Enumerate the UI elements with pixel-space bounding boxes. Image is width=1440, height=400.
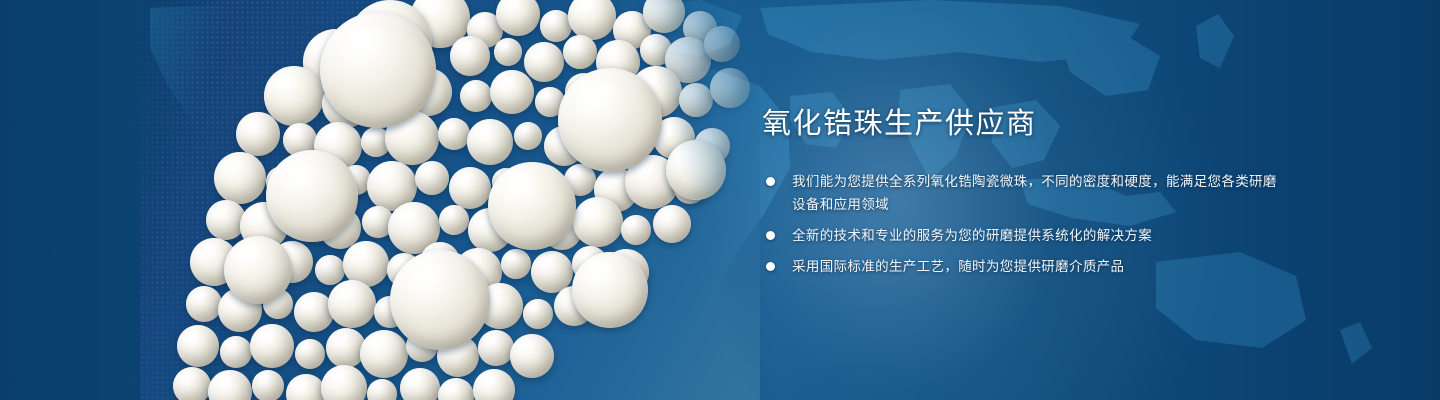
zirconia-bead	[679, 83, 713, 117]
zirconia-bead	[321, 365, 367, 400]
zirconia-bead	[568, 0, 616, 40]
zirconia-bead	[367, 379, 397, 400]
hero-banner: 氧化锆珠生产供应商 我们能为您提供全系列氧化锆陶瓷微珠，不同的密度和硬度，能满足…	[0, 0, 1440, 400]
zirconia-bead	[653, 205, 691, 243]
zirconia-bead	[478, 330, 514, 366]
zirconia-beads-photo	[140, 0, 760, 400]
zirconia-bead	[710, 68, 750, 108]
bead-cluster	[140, 0, 760, 400]
zirconia-bead	[494, 38, 522, 66]
zirconia-bead	[490, 70, 534, 114]
zirconia-bead	[400, 368, 440, 400]
zirconia-bead	[208, 370, 252, 400]
zirconia-bead	[523, 299, 553, 329]
bullet-dot-icon	[766, 177, 775, 186]
zirconia-bead	[514, 122, 542, 150]
zirconia-bead	[186, 286, 222, 322]
feature-item-3: 采用国际标准的生产工艺，随时为您提供研磨介质产品	[762, 255, 1282, 278]
feature-text-1: 我们能为您提供全系列氧化锆陶瓷微珠，不同的密度和硬度，能满足您各类研磨设备和应用…	[792, 174, 1277, 212]
zirconia-bead	[666, 140, 726, 200]
zirconia-bead	[266, 150, 358, 242]
feature-text-2: 全新的技术和专业的服务为您的研磨提供系统化的解决方案	[792, 228, 1152, 243]
feature-text-3: 采用国际标准的生产工艺，随时为您提供研磨介质产品	[792, 259, 1124, 274]
zirconia-bead	[390, 250, 490, 350]
zirconia-bead	[214, 152, 266, 204]
zirconia-bead	[438, 378, 474, 400]
zirconia-bead	[473, 369, 515, 400]
zirconia-bead	[415, 161, 449, 195]
zirconia-bead	[524, 42, 564, 82]
feature-item-2: 全新的技术和专业的服务为您的研磨提供系统化的解决方案	[762, 224, 1282, 247]
zirconia-bead	[510, 334, 554, 378]
banner-content: 氧化锆珠生产供应商 我们能为您提供全系列氧化锆陶瓷微珠，不同的密度和硬度，能满足…	[762, 104, 1282, 278]
zirconia-bead	[501, 249, 531, 279]
zirconia-bead	[320, 12, 436, 128]
zirconia-bead	[250, 324, 294, 368]
zirconia-bead	[360, 330, 408, 378]
zirconia-bead	[224, 236, 292, 304]
zirconia-bead	[621, 215, 651, 245]
zirconia-bead	[460, 80, 492, 112]
bullet-dot-icon	[766, 262, 775, 271]
zirconia-bead	[704, 26, 740, 62]
zirconia-bead	[439, 205, 469, 235]
zirconia-bead	[236, 112, 280, 156]
zirconia-bead	[295, 339, 325, 369]
zirconia-bead	[286, 374, 326, 400]
bullet-dot-icon	[766, 231, 775, 240]
feature-list: 我们能为您提供全系列氧化锆陶瓷微珠，不同的密度和硬度，能满足您各类研磨设备和应用…	[762, 170, 1282, 278]
zirconia-bead	[449, 167, 491, 209]
zirconia-bead	[467, 119, 513, 165]
zirconia-bead	[450, 36, 490, 76]
banner-headline: 氧化锆珠生产供应商	[762, 104, 1282, 144]
zirconia-bead	[252, 370, 284, 400]
zirconia-bead	[438, 118, 470, 150]
zirconia-bead	[496, 0, 540, 36]
zirconia-bead	[563, 35, 597, 69]
zirconia-bead	[488, 162, 576, 250]
zirconia-bead	[177, 325, 219, 367]
feature-item-1: 我们能为您提供全系列氧化锆陶瓷微珠，不同的密度和硬度，能满足您各类研磨设备和应用…	[762, 170, 1282, 216]
zirconia-bead	[558, 68, 662, 172]
zirconia-bead	[573, 197, 623, 247]
zirconia-bead	[173, 367, 211, 400]
zirconia-bead	[220, 336, 252, 368]
zirconia-bead	[328, 280, 376, 328]
zirconia-bead	[315, 255, 345, 285]
zirconia-bead	[572, 252, 648, 328]
